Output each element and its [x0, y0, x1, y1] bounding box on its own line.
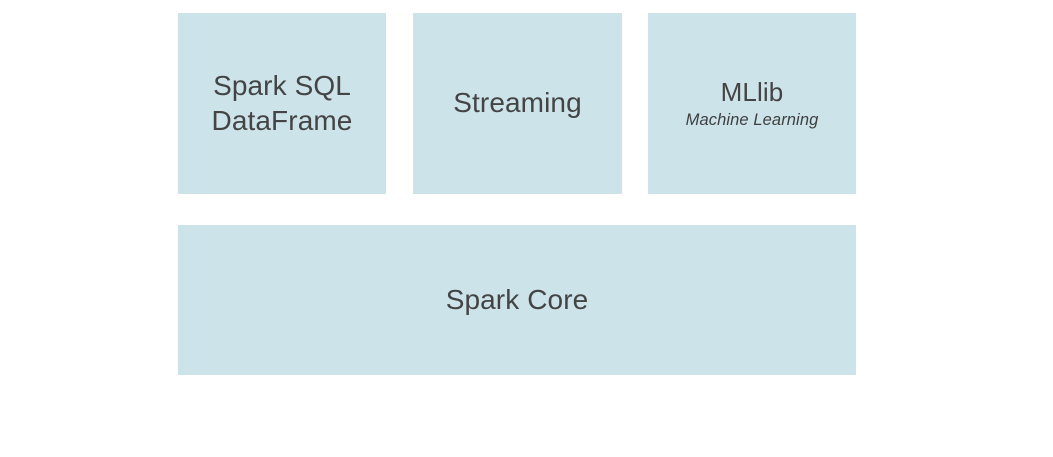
- block-title-mllib: MLlib: [721, 77, 784, 109]
- diagram-block-streaming: Streaming: [413, 13, 622, 194]
- block-title-streaming: Streaming: [453, 86, 582, 120]
- diagram-block-spark-core: Spark Core: [178, 225, 856, 375]
- block-title-spark-core: Spark Core: [446, 283, 589, 317]
- diagram-block-mllib: MLlib Machine Learning: [648, 13, 856, 194]
- diagram-block-spark-sql: Spark SQL DataFrame: [178, 13, 386, 194]
- block-subtitle-mllib: Machine Learning: [686, 110, 819, 130]
- block-title-spark-sql: Spark SQL DataFrame: [212, 69, 353, 137]
- diagram-canvas: Spark SQL DataFrame Streaming MLlib Mach…: [0, 0, 1053, 457]
